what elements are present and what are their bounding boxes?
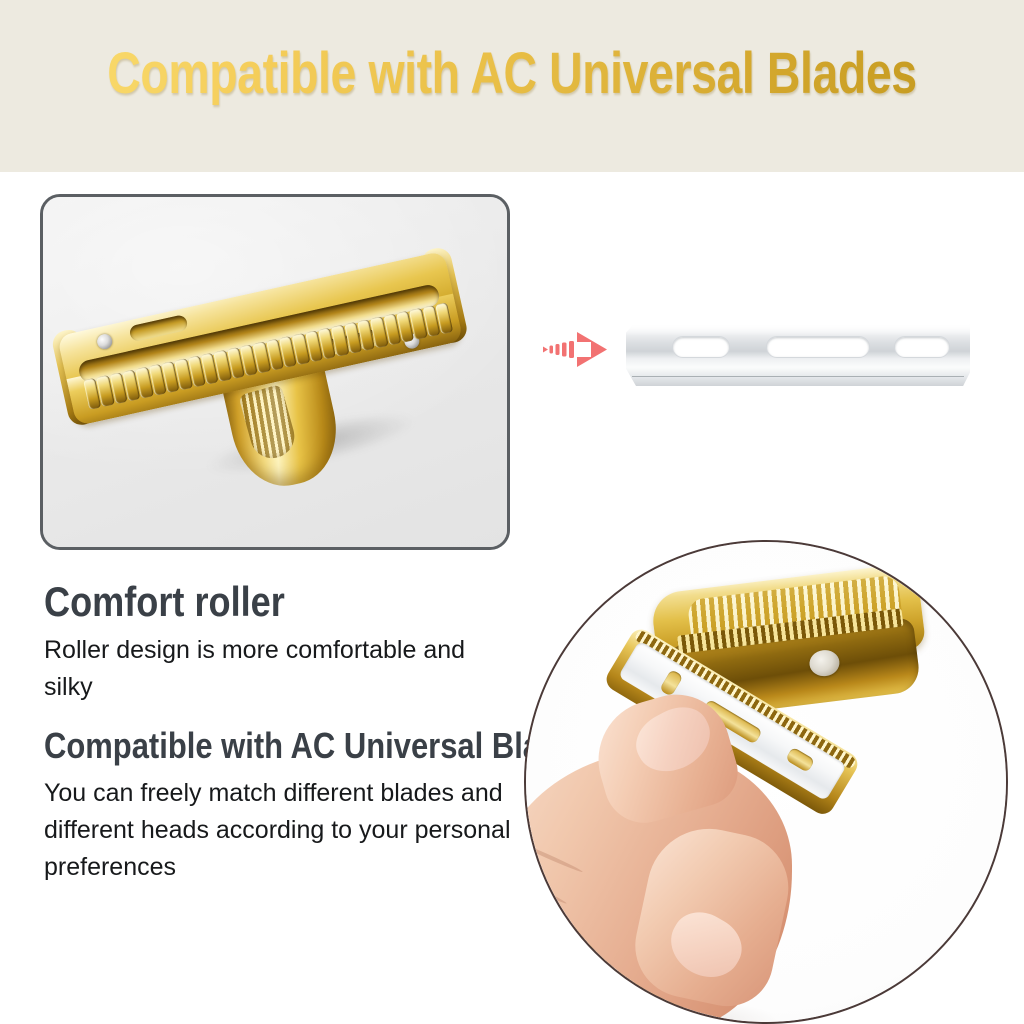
right-arrow-icon [541,328,613,372]
ac-universal-blade-image [626,318,970,390]
product-image-panel [40,194,510,550]
blade-slot-center [766,336,870,358]
feature-heading-comfort-roller: Comfort roller [44,578,491,626]
feature-copy-block: Comfort roller Roller design is more com… [44,578,564,886]
lifestyle-photo-frame [524,540,1008,1024]
feature-heading-compatible-blades: Compatible with AC Universal Blades [44,725,491,767]
thumbnail [660,901,752,989]
knuckle-crease [526,871,567,905]
knuckle-crease [526,907,552,938]
hand [526,698,844,1022]
page-title: Compatible with AC Universal Blades [102,42,921,106]
handle-knurl-texture [238,384,299,463]
blade-edge-line [632,376,964,377]
feature-body-comfort-roller: Roller design is more comfortable and si… [44,632,514,706]
header-band: Compatible with AC Universal Blades [0,0,1024,172]
blade-slot-right [894,336,950,358]
hand-holding-gold-razor-image [526,542,1006,1022]
blade-slot-left [672,336,730,358]
feature-body-compatible-blades: You can freely match different blades an… [44,775,514,886]
knuckle-crease [526,838,583,873]
blade-highlight [626,324,970,336]
index-fingernail [626,697,720,784]
